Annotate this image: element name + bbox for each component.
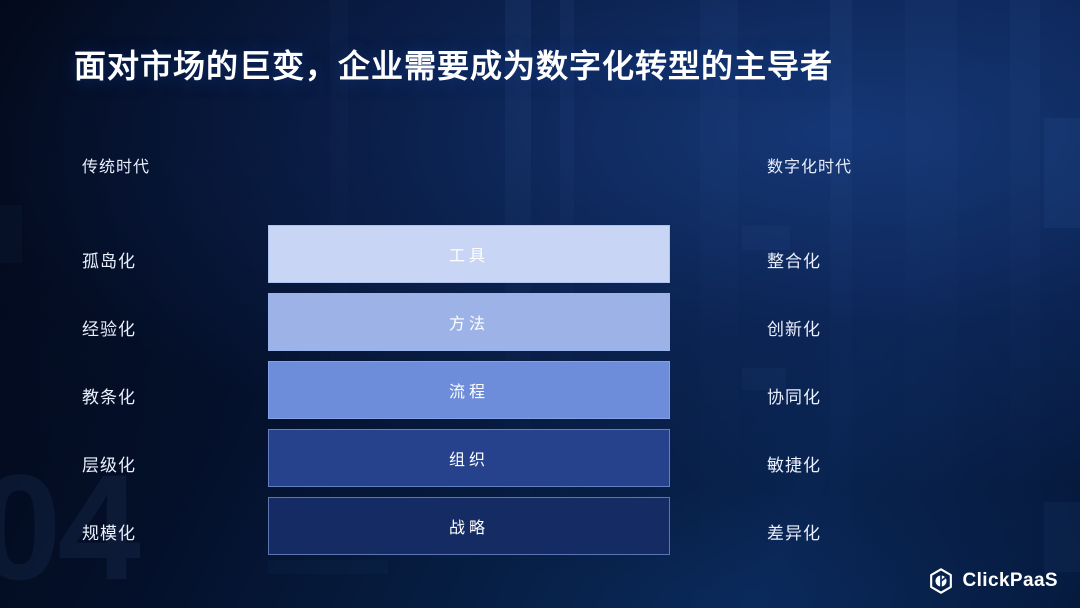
center-bar: 方法 (268, 293, 670, 351)
left-column-item: 层级化 (82, 429, 282, 497)
right-column-item: 整合化 (767, 225, 967, 293)
right-column-item: 创新化 (767, 293, 967, 361)
background-streak (1010, 0, 1040, 608)
center-bar: 工具 (268, 225, 670, 283)
left-column-item: 孤岛化 (82, 225, 282, 293)
center-bar: 战略 (268, 497, 670, 555)
right-column-list: 整合化创新化协同化敏捷化差异化 (767, 225, 967, 565)
clickpaas-hexagon-icon (928, 568, 954, 594)
background-block (268, 560, 388, 574)
clickpaas-logo: ClickPaaS (928, 568, 1059, 594)
center-bar: 组织 (268, 429, 670, 487)
left-column-list: 孤岛化经验化教条化层级化规模化 (82, 225, 282, 565)
slide-canvas: 04 面对市场的巨变，企业需要成为数字化转型的主导者 传统时代 数字化时代 孤岛… (0, 0, 1080, 608)
right-column-item: 协同化 (767, 361, 967, 429)
right-column-item: 差异化 (767, 497, 967, 565)
center-bar-stack: 工具方法流程组织战略 (268, 225, 670, 555)
left-column-item: 教条化 (82, 361, 282, 429)
clickpaas-wordmark: ClickPaaS (963, 570, 1059, 592)
background-block (0, 205, 22, 263)
background-block (1044, 118, 1080, 228)
center-bar: 流程 (268, 361, 670, 419)
slide-title: 面对市场的巨变，企业需要成为数字化转型的主导者 (74, 41, 833, 87)
left-column-heading: 传统时代 (82, 153, 150, 177)
left-column-item: 规模化 (82, 497, 282, 565)
left-column-item: 经验化 (82, 293, 282, 361)
background-streak (700, 0, 738, 608)
right-column-heading: 数字化时代 (767, 153, 852, 177)
right-column-item: 敏捷化 (767, 429, 967, 497)
background-block (1044, 502, 1080, 572)
